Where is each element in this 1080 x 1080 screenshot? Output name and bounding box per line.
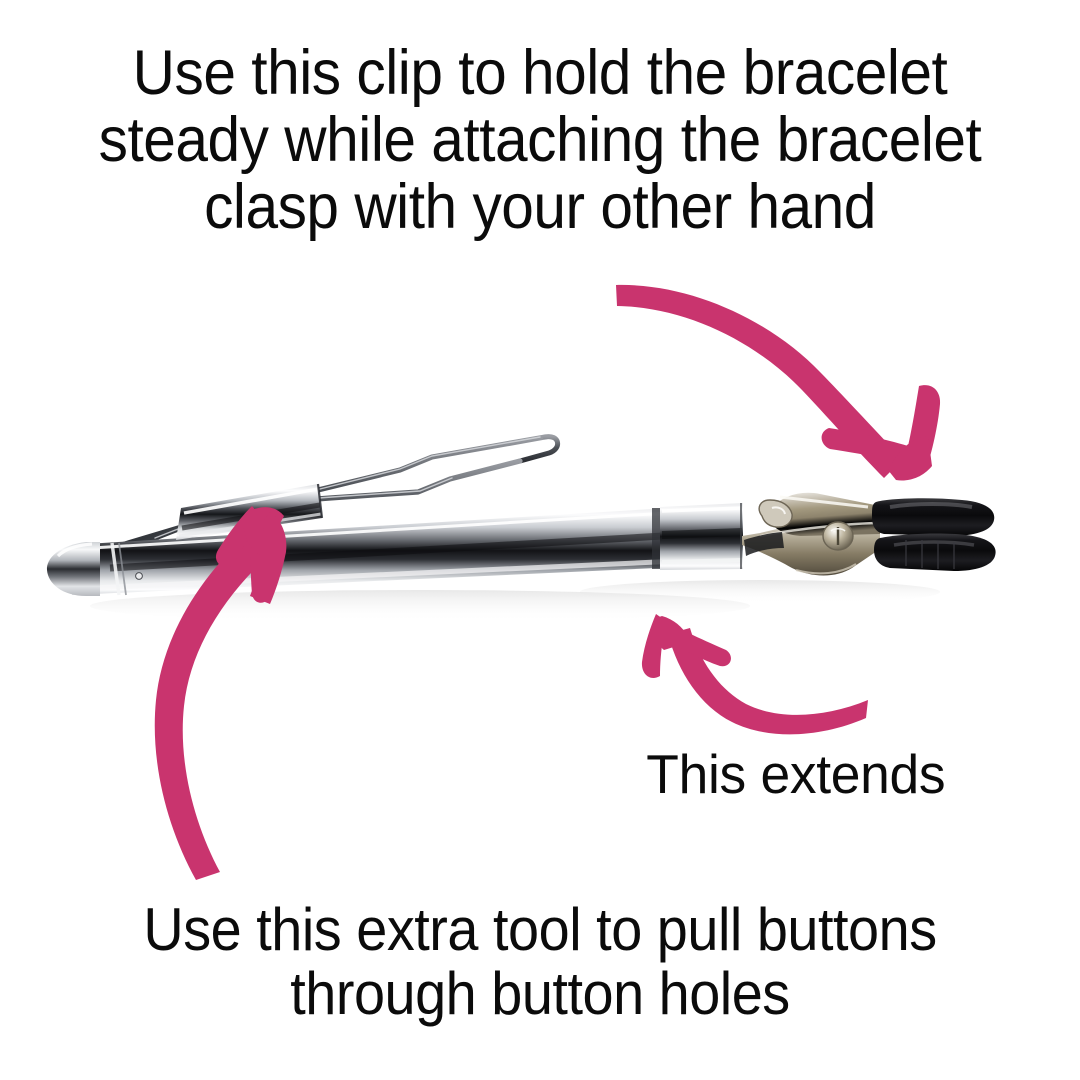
- sliding-collar: [176, 484, 322, 540]
- wire-button-hook: [95, 437, 558, 558]
- instruction-graphic: Use this clip to hold the bracelet stead…: [0, 0, 1080, 1080]
- clamp-jaws: [742, 493, 880, 576]
- main-shaft: [72, 506, 700, 595]
- arrow-to-clip-clamp: [616, 285, 940, 481]
- clamp-pivot-rivet: [823, 522, 853, 550]
- wire-highlight: [155, 437, 540, 538]
- caption-bottom: Use this extra tool to pull buttons thro…: [75, 898, 1005, 1025]
- arrow-to-extending-shaft: [642, 614, 868, 734]
- caption-this-extends: This extends: [646, 745, 1053, 803]
- tool-shadow: [90, 580, 940, 622]
- caption-top: Use this clip to hold the bracelet stead…: [75, 40, 1005, 240]
- outer-sleeve: [660, 503, 743, 570]
- rounded-end-cap: [47, 542, 142, 596]
- rubber-grip-tips: [872, 498, 996, 571]
- telescoping-joint: [652, 508, 660, 569]
- arrow-to-button-tool: [155, 506, 287, 880]
